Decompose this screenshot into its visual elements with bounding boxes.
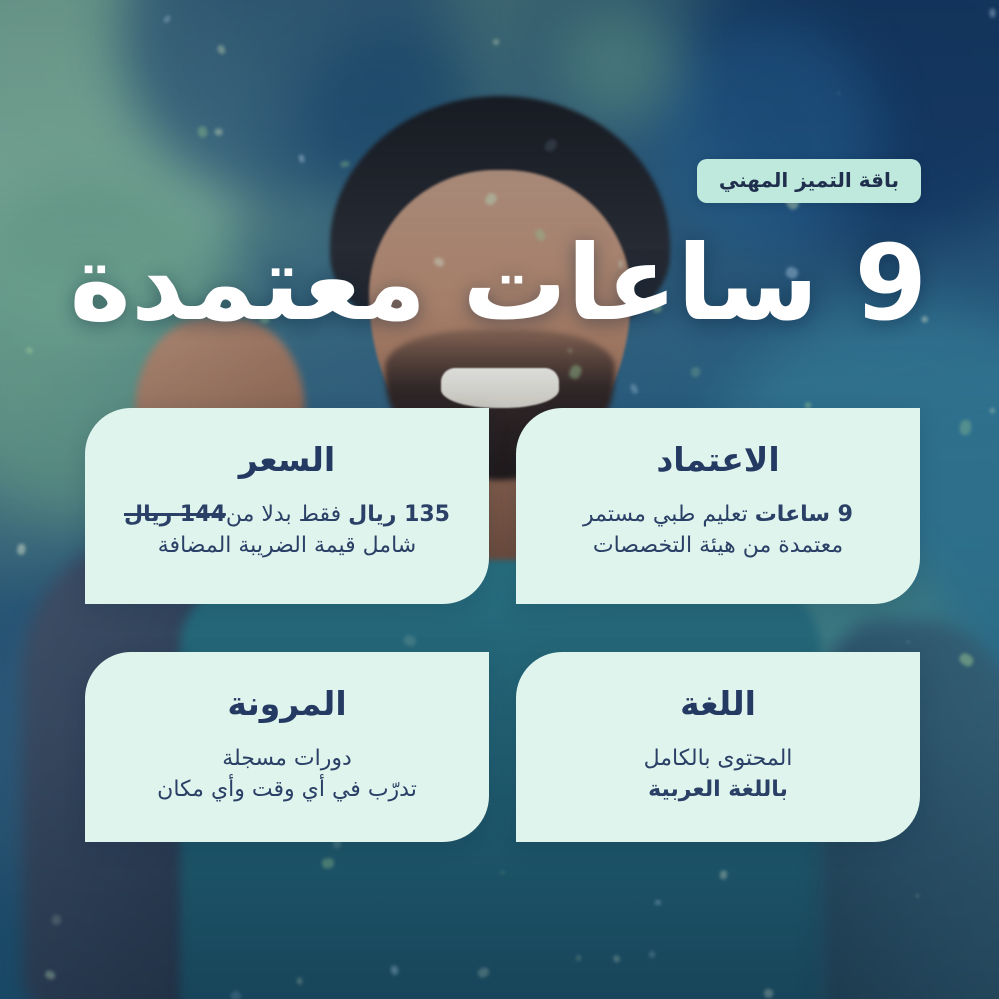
card-accreditation-line2: معتمدة من هيئة التخصصات	[542, 530, 894, 561]
card-language-line1: المحتوى بالكامل	[542, 743, 894, 774]
price-original-strikethrough: 144 ريال	[124, 502, 226, 527]
accreditation-hours: 9 ساعات	[755, 502, 853, 527]
card-price: السعر 135 ريال فقط بدلا من144 ريال شامل …	[85, 408, 489, 604]
card-flexibility-title: المرونة	[111, 686, 463, 723]
package-badge: باقة التميز المهني	[697, 159, 921, 203]
page-title: 9 ساعات معتمدة	[72, 228, 927, 338]
card-flexibility-line2: تدرّب في أي وقت وأي مكان	[111, 774, 463, 805]
card-price-line1: 135 ريال فقط بدلا من144 ريال	[111, 499, 463, 530]
card-accreditation: الاعتماد 9 ساعات تعليم طبي مستمر معتمدة …	[516, 408, 920, 604]
card-flexibility: المرونة دورات مسجلة تدرّب في أي وقت وأي …	[85, 652, 489, 842]
accreditation-cme-text: تعليم طبي مستمر	[583, 502, 748, 527]
promo-poster: باقة التميز المهني 9 ساعات معتمدة الاعتم…	[0, 0, 999, 999]
card-accreditation-line1: 9 ساعات تعليم طبي مستمر	[542, 499, 894, 530]
card-language-title: اللغة	[542, 686, 894, 723]
card-language: اللغة المحتوى بالكامل باللغة العربية	[516, 652, 920, 842]
price-current: 135 ريال	[348, 502, 450, 527]
price-instead-of-text: فقط بدلا من	[226, 502, 341, 527]
language-arabic: باللغة العربية	[648, 777, 788, 802]
card-language-line2: باللغة العربية	[542, 774, 894, 805]
card-price-line2-vat: شامل قيمة الضريبة المضافة	[111, 530, 463, 561]
card-flexibility-line1: دورات مسجلة	[111, 743, 463, 774]
feature-cards-grid: الاعتماد 9 ساعات تعليم طبي مستمر معتمدة …	[85, 408, 920, 842]
card-price-title: السعر	[111, 442, 463, 479]
card-accreditation-title: الاعتماد	[542, 442, 894, 479]
